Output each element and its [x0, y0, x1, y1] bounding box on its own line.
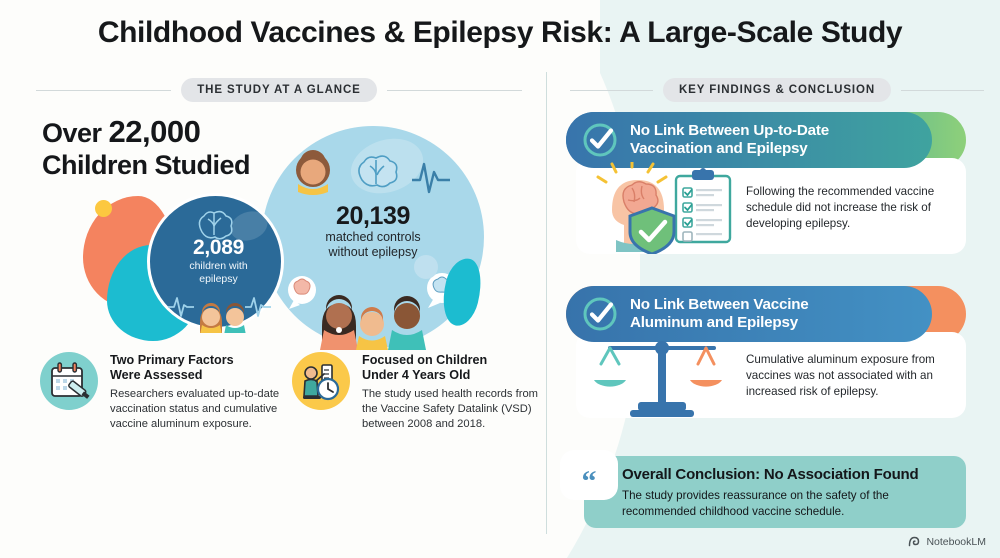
control-circle-number: 20,139: [262, 202, 484, 231]
watermark: NotebookLM: [908, 535, 986, 548]
decor-dot-yellow: [95, 200, 112, 217]
child-height-clock-icon: [292, 352, 350, 410]
title-line2: Were Assessed: [110, 368, 202, 382]
check-circle-icon: [582, 122, 618, 158]
info-card-title: Focused on Children Under 4 Years Old: [362, 353, 542, 383]
finding-title: No Link Between Vaccine Aluminum and Epi…: [630, 296, 809, 332]
watermark-label: NotebookLM: [926, 536, 986, 548]
check-circle-icon: [582, 296, 618, 332]
title-line2: Under 4 Years Old: [362, 368, 470, 382]
conclusion-text: The study provides reassurance on the sa…: [622, 488, 952, 520]
child-avatar-1: [320, 295, 358, 350]
speech-bubble-brain-left: [288, 276, 316, 309]
page-title: Childhood Vaccines & Epilepsy Risk: A La…: [0, 16, 1000, 50]
title-line1: Two Primary Factors: [110, 353, 234, 367]
calendar-syringe-icon: [40, 352, 98, 410]
finding-description: Following the recommended vaccine schedu…: [746, 184, 951, 231]
control-label-line2: without epilepsy: [329, 245, 418, 259]
control-label-line1: matched controls: [325, 230, 420, 244]
section-pill-findings: KEY FINDINGS & CONCLUSION: [663, 78, 891, 102]
finding-title: No Link Between Up-to-Date Vaccination a…: [630, 122, 829, 158]
pill-line-left: [570, 90, 653, 91]
title-line1: Focused on Children: [362, 353, 487, 367]
info-card-two-factors: Two Primary Factors Were Assessed Resear…: [40, 352, 290, 432]
child-avatar-boy: [224, 303, 246, 333]
epilepsy-label-line2: epilepsy: [199, 273, 238, 285]
title-line1: No Link Between Up-to-Date: [630, 122, 829, 139]
pill-line-left: [36, 90, 171, 91]
pill-line-right: [901, 90, 984, 91]
finding-description: Cumulative aluminum exposure from vaccin…: [746, 352, 954, 399]
headline-prefix: Over: [42, 118, 109, 148]
title-line2: Vaccination and Epilepsy: [630, 140, 808, 157]
conclusion-block: “ Overall Conclusion: No Association Fou…: [560, 456, 966, 528]
conclusion-title: Overall Conclusion: No Association Found: [622, 466, 918, 483]
title-line2: Aluminum and Epilepsy: [630, 314, 798, 331]
quote-icon: “: [560, 450, 618, 500]
decor-dot-blue: [414, 255, 438, 279]
child-avatar-girl: [200, 303, 222, 333]
info-card-body: Two Primary Factors Were Assessed Resear…: [110, 352, 290, 432]
epilepsy-circle-label: children with epilepsy: [150, 260, 287, 286]
epilepsy-circle-number: 2,089: [150, 236, 287, 260]
panel-divider: [546, 72, 547, 534]
brain-shield-checklist-icon: [584, 162, 744, 254]
pill-line-right: [387, 90, 522, 91]
finding-banner: No Link Between Up-to-Date Vaccination a…: [566, 112, 932, 168]
title-line1: No Link Between Vaccine: [630, 296, 809, 313]
headline-line2: Children Studied: [42, 150, 250, 180]
info-card-text: Researchers evaluated up-to-date vaccina…: [110, 387, 290, 432]
child-avatar-2: [356, 307, 388, 350]
section-pill-study: THE STUDY AT A GLANCE: [181, 78, 377, 102]
info-card-body: Focused on Children Under 4 Years Old Th…: [362, 352, 542, 432]
info-card-title: Two Primary Factors Were Assessed: [110, 353, 290, 383]
epilepsy-group-circle: 2,089 children with epilepsy: [147, 193, 284, 330]
epilepsy-label-line1: children with: [189, 260, 247, 272]
section-header-left: THE STUDY AT A GLANCE: [36, 78, 522, 102]
child-avatar-3: [388, 296, 426, 350]
control-circle-label: matched controls without epilepsy: [262, 230, 484, 261]
balance-scale-icon: [580, 336, 745, 420]
infographic-canvas: Childhood Vaccines & Epilepsy Risk: A La…: [0, 0, 1000, 558]
section-header-right: KEY FINDINGS & CONCLUSION: [570, 78, 984, 102]
notebooklm-logo-icon: [908, 535, 921, 548]
finding-banner: No Link Between Vaccine Aluminum and Epi…: [566, 286, 932, 342]
info-card-text: The study used health records from the V…: [362, 387, 542, 432]
headline-number: 22,000: [109, 114, 201, 149]
epilepsy-kids-illustration: [150, 289, 287, 333]
info-card-under-four: Focused on Children Under 4 Years Old Th…: [292, 352, 542, 432]
